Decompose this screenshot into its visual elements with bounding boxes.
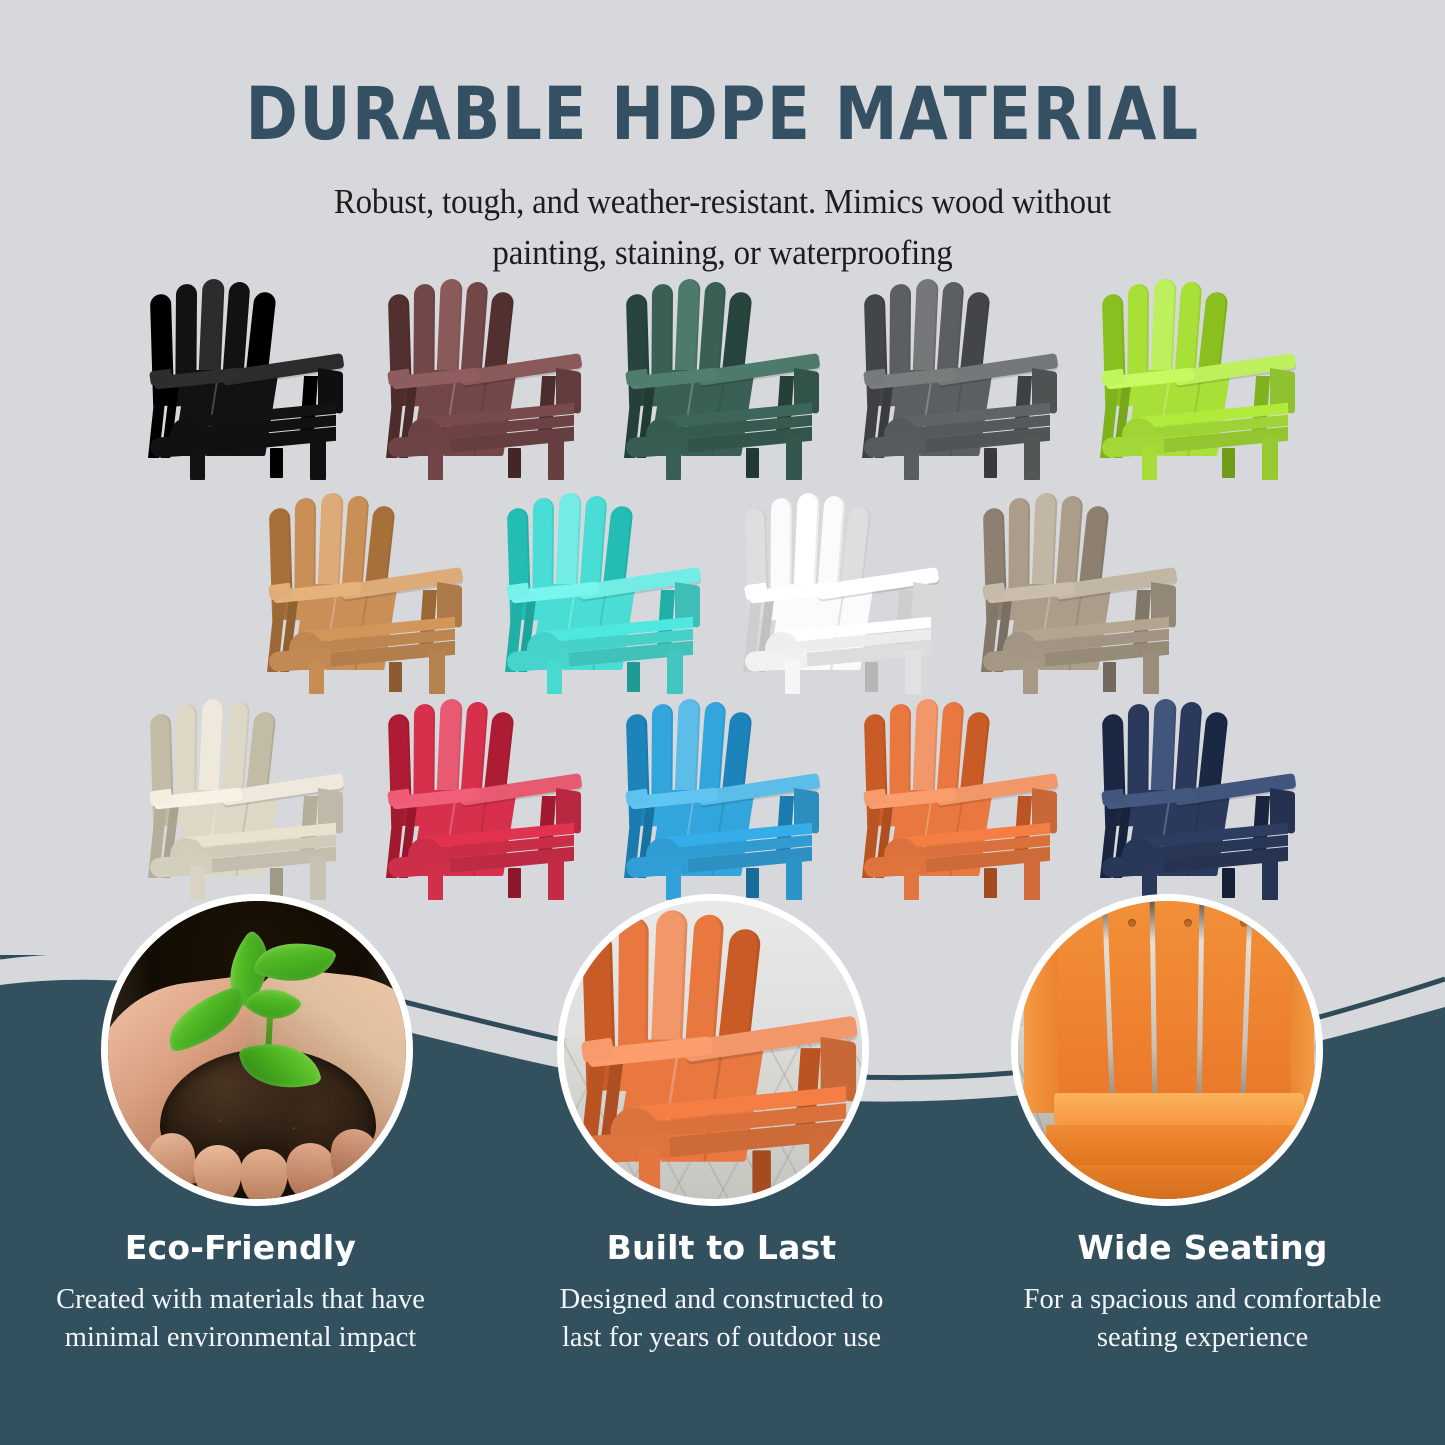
orange-chair-wide-seat-closeup-photo (1018, 901, 1316, 1199)
chair-leg-back-right (865, 662, 878, 692)
chair-crimson-red (388, 698, 584, 898)
feature-desc-line-2: last for years of outdoor use (495, 1319, 948, 1357)
chair-teak (269, 492, 465, 692)
chair-leg-front-right (429, 650, 445, 694)
chair-weathered-wood (983, 492, 1179, 692)
chair-leg-front-right (310, 436, 326, 480)
chair-leg-front-left (1023, 660, 1038, 694)
chair-orange (582, 909, 860, 1193)
chair-swatch-crimson-red[interactable] (366, 692, 604, 900)
chair-swatch-black[interactable] (128, 272, 366, 480)
chair-swatch-lime-green[interactable] (1080, 272, 1318, 480)
chair-wine-red (388, 278, 584, 478)
chair-left-arm-tip (1101, 789, 1125, 807)
chair-left-arm-tip (863, 369, 887, 387)
subtitle-line-2: painting, staining, or waterproofing (43, 228, 1401, 279)
chair-left-arm-tip (581, 1038, 615, 1063)
screw-2 (1184, 919, 1192, 927)
chair-leg-front-right (548, 436, 564, 480)
eco-friendly-photo-circle (101, 894, 413, 1206)
feature-wide-seating: Wide Seating For a spacious and comforta… (962, 1228, 1443, 1356)
chair-leg-back-right (1222, 448, 1235, 478)
chair-row-2 (0, 486, 1445, 694)
chair-left-arm-tip (625, 369, 649, 387)
chair-gray (864, 278, 1060, 478)
feature-built-to-last: Built to Last Designed and constructed t… (481, 1228, 962, 1356)
chair-leg-front-left (904, 446, 919, 480)
chair-left-arm-tip (387, 789, 411, 807)
closeup-seat-skirt (1046, 1165, 1308, 1206)
header-block: DURABLE HDPE MATERIAL Robust, tough, and… (0, 0, 1445, 279)
chair-left-arm-tip (863, 789, 887, 807)
chair-lime-green (1102, 278, 1298, 478)
chair-leg-front-left (639, 1148, 660, 1196)
infographic-page: DURABLE HDPE MATERIAL Robust, tough, and… (0, 0, 1445, 1445)
feature-desc-line-1: For a spacious and comfortable (976, 1281, 1429, 1319)
chair-row-3 (0, 692, 1445, 900)
chair-swatch-blue[interactable] (604, 692, 842, 900)
screw-1 (1128, 919, 1136, 927)
chair-left-arm-tip (506, 583, 530, 601)
chair-left-arm-tip (149, 789, 173, 807)
chair-color-grid (0, 272, 1445, 922)
chair-leg-back-right (389, 662, 402, 692)
chair-leg-back-right (746, 448, 759, 478)
chair-leg-front-right (905, 650, 921, 694)
chair-leg-back-right (1103, 662, 1116, 692)
chair-left-arm-tip (625, 789, 649, 807)
hands-holding-seedling-photo (108, 901, 406, 1199)
feature-title: Built to Last (495, 1228, 948, 1267)
chair-white (745, 492, 941, 692)
orange-adirondack-chair-on-patio-photo (564, 901, 862, 1199)
feature-desc-line-2: seating experience (976, 1319, 1429, 1357)
chair-leg-front-left (785, 660, 800, 694)
chair-leg-front-right (1262, 436, 1278, 480)
feature-description: Designed and constructed to last for yea… (495, 1281, 948, 1356)
chair-left-arm-tip (1101, 369, 1125, 387)
feature-description: Created with materials that have minimal… (14, 1281, 467, 1356)
chair-swatch-ivory[interactable] (128, 692, 366, 900)
chair-leg-front-right (786, 436, 802, 480)
chair-left-arm-tip (268, 583, 292, 601)
chair-row-1 (0, 272, 1445, 480)
chair-leg-back-right (508, 448, 521, 478)
chair-swatch-dark-green[interactable] (604, 272, 842, 480)
feature-title: Wide Seating (976, 1228, 1429, 1267)
chair-dark-green (626, 278, 822, 478)
chair-leg-back-right (627, 662, 640, 692)
chair-left-arm-tip (149, 369, 173, 387)
chair-swatch-teak[interactable] (247, 486, 485, 694)
subtitle-line-1: Robust, tough, and weather-resistant. Mi… (43, 177, 1401, 228)
chair-swatch-turquoise[interactable] (485, 486, 723, 694)
chair-leg-front-left (1142, 446, 1157, 480)
page-title: DURABLE HDPE MATERIAL (29, 78, 1416, 151)
feature-desc-line-1: Designed and constructed to (495, 1281, 948, 1319)
page-subtitle: Robust, tough, and weather-resistant. Mi… (43, 177, 1401, 279)
feature-description: For a spacious and comfortable seating e… (976, 1281, 1429, 1356)
feature-photo-row (0, 894, 1445, 1214)
wide-seating-photo-circle (1011, 894, 1323, 1206)
chair-leg-front-left (547, 660, 562, 694)
closeup-seat-render (1018, 901, 1316, 1199)
chair-swatch-navy[interactable] (1080, 692, 1318, 900)
chair-leg-front-right (1143, 650, 1159, 694)
chair-leg-back-right (984, 448, 997, 478)
chair-left-arm-tip (744, 583, 768, 601)
chair-swatch-weathered-wood[interactable] (961, 486, 1199, 694)
chair-swatch-orange[interactable] (842, 692, 1080, 900)
chair-turquoise (507, 492, 703, 692)
chair-leg-front-left (428, 446, 443, 480)
chair-blue (626, 698, 822, 898)
chair-leg-front-right (1024, 436, 1040, 480)
chair-leg-front-left (190, 446, 205, 480)
chair-orange (864, 698, 1060, 898)
chair-leg-back-right (752, 1150, 770, 1193)
chair-leg-front-left (666, 446, 681, 480)
chair-swatch-gray[interactable] (842, 272, 1080, 480)
chair-navy (1102, 698, 1298, 898)
feature-desc-line-2: minimal environmental impact (14, 1319, 467, 1357)
chair-ivory (150, 698, 346, 898)
orange-chair-render (582, 909, 850, 1206)
feature-eco-friendly: Eco-Friendly Created with materials that… (0, 1228, 481, 1356)
chair-leg-front-right (809, 1133, 832, 1195)
feature-title: Eco-Friendly (14, 1228, 467, 1267)
chair-swatch-wine-red[interactable] (366, 272, 604, 480)
chair-left-arm-tip (982, 583, 1006, 601)
closeup-backrest (1058, 894, 1290, 1111)
screw-3 (1240, 919, 1248, 927)
closeup-seat-front (1046, 1125, 1308, 1165)
chair-leg-front-left (309, 660, 324, 694)
closeup-seat-surface (1054, 1093, 1304, 1125)
feature-desc-line-1: Created with materials that have (14, 1281, 467, 1319)
feature-caption-row: Eco-Friendly Created with materials that… (0, 1228, 1445, 1356)
chair-leg-back-right (270, 448, 283, 478)
chair-left-arm-tip (387, 369, 411, 387)
chair-leg-front-right (667, 650, 683, 694)
chair-swatch-white[interactable] (723, 486, 961, 694)
built-to-last-photo-circle (557, 894, 869, 1206)
chair-black (150, 278, 346, 478)
